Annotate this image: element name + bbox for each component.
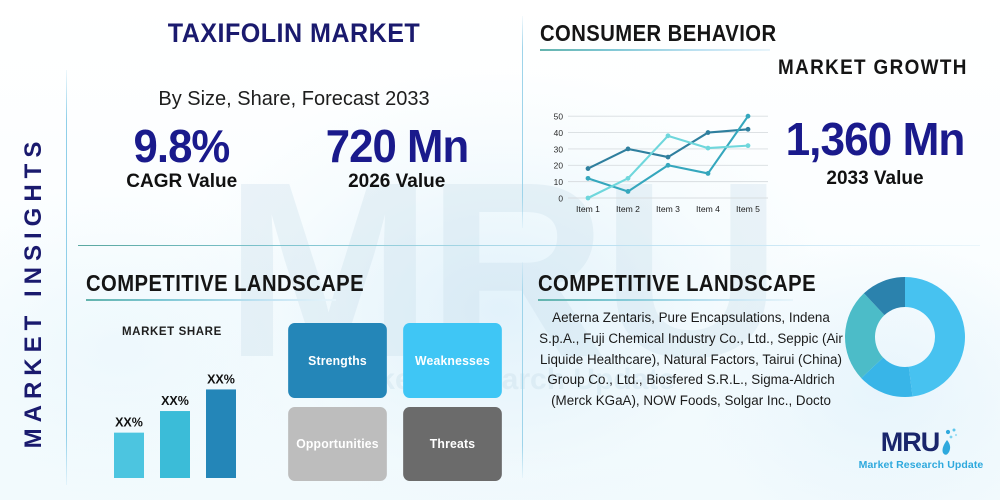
left-vertical-rail (66, 70, 67, 485)
swot-strengths[interactable]: Strengths (288, 323, 387, 398)
heading-rule (540, 49, 770, 51)
swot-grid: Strengths Weaknesses Opportunities Threa… (285, 323, 505, 481)
brand-logo: MRU Market Research Update (858, 424, 984, 471)
svg-text:MRU: MRU (881, 427, 940, 457)
swot-weaknesses[interactable]: Weaknesses (403, 323, 502, 398)
vertical-divider-bottom (522, 262, 523, 478)
mru-logo-icon: MRU (858, 424, 984, 458)
svg-text:Item 1: Item 1 (576, 204, 600, 214)
side-label-market-insights: MARKET INSIGHTS (20, 92, 48, 492)
company-list: Aeterna Zentaris, Pure Encapsulations, I… (532, 308, 850, 412)
svg-text:Item 2: Item 2 (616, 204, 640, 214)
stat-2026-value: 720 Mn (325, 122, 467, 170)
swot-weaknesses-label: Weaknesses (415, 353, 490, 368)
stat-2026-label: 2026 Value (322, 171, 472, 193)
swot-threats-label: Threats (430, 436, 475, 451)
vertical-divider-top (522, 16, 523, 228)
stat-2026: 720 Mn 2026 Value (322, 122, 472, 193)
market-segment-donut-chart (840, 272, 970, 402)
line-chart-y-axis-labels: 01020304050 (554, 112, 564, 204)
svg-text:Item 4: Item 4 (696, 204, 720, 214)
stat-cagr-label: CAGR Value (126, 171, 237, 193)
swot-opportunities-label: Opportunities (296, 436, 379, 451)
page-subtitle: By Size, Share, Forecast 2033 (84, 88, 504, 111)
consumer-behavior-line-chart: 01020304050 Item 1Item 2Item 3Item 4Item… (540, 100, 772, 222)
line-chart-series (586, 114, 751, 201)
svg-text:30: 30 (554, 144, 564, 154)
svg-text:40: 40 (554, 128, 564, 138)
headline-stats: 9.8% CAGR Value 720 Mn 2026 Value (84, 122, 514, 193)
stat-cagr: 9.8% CAGR Value (126, 122, 237, 193)
svg-text:20: 20 (554, 161, 564, 171)
svg-text:XX%: XX% (161, 394, 189, 408)
competitive-landscape-heading-right-text: COMPETITIVE LANDSCAPE (538, 270, 762, 297)
svg-text:50: 50 (554, 112, 564, 122)
market-share-label: MARKET SHARE (122, 326, 222, 338)
page-title: TAXIFOLIN MARKET (99, 18, 490, 49)
swot-threats[interactable]: Threats (403, 407, 502, 482)
consumer-behavior-heading: CONSUMER BEHAVIOR (540, 20, 770, 51)
heading-rule-right (538, 299, 793, 301)
svg-text:XX%: XX% (207, 372, 235, 386)
swot-strengths-label: Strengths (308, 353, 367, 368)
market-growth-heading: MARKET GROWTH (778, 56, 968, 80)
donut-slices (845, 277, 965, 397)
market-growth-value: 1,360 Mn (765, 112, 986, 166)
competitive-landscape-heading-left-text: COMPETITIVE LANDSCAPE (86, 270, 306, 297)
svg-text:Item 5: Item 5 (736, 204, 760, 214)
market-growth-label: 2033 Value (760, 168, 990, 190)
swot-opportunities[interactable]: Opportunities (288, 407, 387, 482)
svg-text:10: 10 (554, 177, 564, 187)
stat-cagr-value: 9.8% (129, 122, 234, 170)
svg-text:Item 3: Item 3 (656, 204, 680, 214)
market-share-bar-chart: XX%XX%XX% (100, 340, 270, 482)
svg-text:XX%: XX% (115, 416, 143, 430)
svg-text:0: 0 (558, 193, 563, 203)
mru-logo-tagline: Market Research Update (858, 459, 984, 471)
competitive-landscape-heading-left: COMPETITIVE LANDSCAPE (86, 270, 336, 301)
line-chart-x-axis-labels: Item 1Item 2Item 3Item 4Item 5 (576, 204, 760, 214)
heading-rule-left (86, 299, 336, 301)
horizontal-divider (78, 245, 980, 246)
consumer-behavior-heading-text: CONSUMER BEHAVIOR (540, 20, 742, 47)
competitive-landscape-heading-right: COMPETITIVE LANDSCAPE (538, 270, 793, 301)
